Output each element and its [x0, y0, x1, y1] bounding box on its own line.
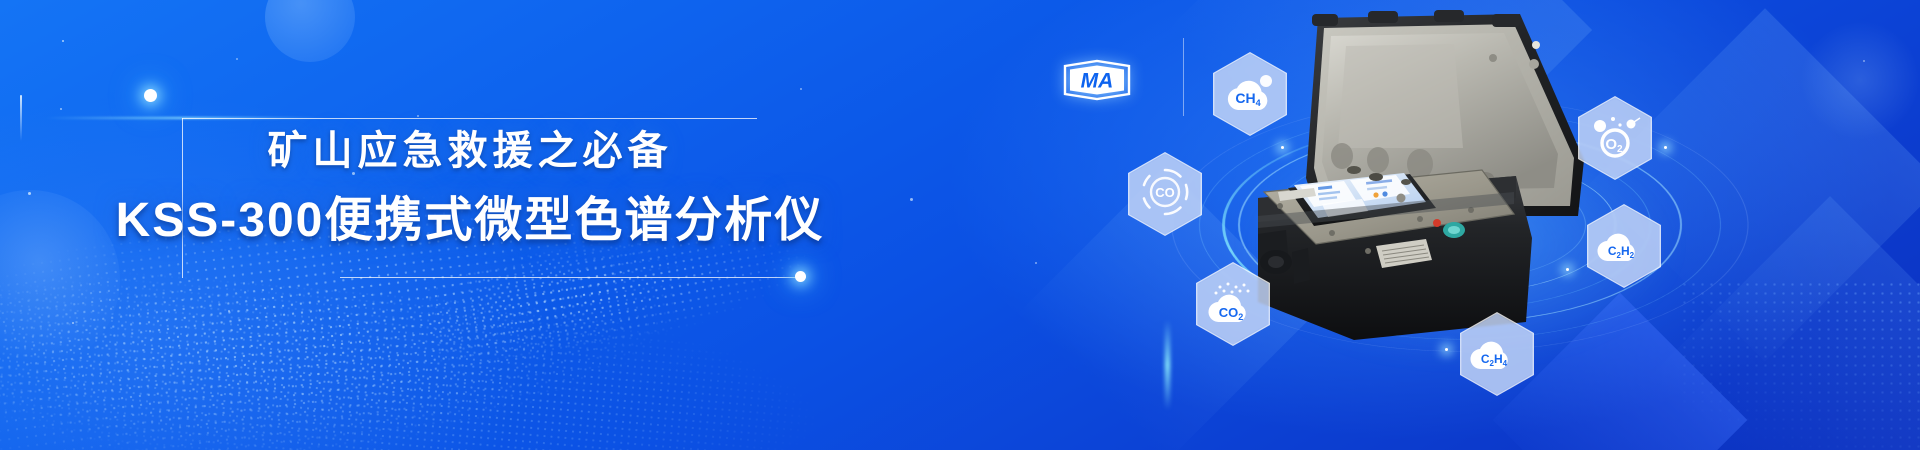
gas-icon-c2h2: C2H2 [1587, 204, 1661, 288]
frame-node-bottom-right [795, 271, 806, 282]
sparkle-dot [800, 88, 802, 90]
gas-icon-co: CO [1128, 152, 1202, 236]
banner-title: KSS-300便携式微型色谱分析仪 [110, 180, 830, 250]
gas-icon-c2h4: C2H4 [1460, 312, 1534, 396]
molecule-gas-icon: O2 [1586, 112, 1644, 165]
sparkle-dot [236, 58, 238, 60]
sparkle-streak [20, 95, 22, 141]
product-banner: 矿山应急救援之必备 KSS-300便携式微型色谱分析仪 MA [0, 0, 1920, 450]
gas-icon-o2: O2 [1578, 96, 1652, 180]
vertical-divider [1183, 38, 1184, 116]
sparkle-dot [72, 322, 74, 324]
frame-bottom-rule [340, 277, 806, 278]
svg-text:O2: O2 [1605, 136, 1623, 155]
radial-gas-icon: CO [1139, 166, 1191, 223]
bg-blob [1800, 20, 1920, 140]
cloud-gas-icon: CO2 [1203, 278, 1263, 331]
svg-text:CO: CO [1155, 185, 1175, 200]
sparkle-dot [228, 310, 230, 312]
cloud-gas-icon: C2H2 [1594, 223, 1654, 270]
sparkle-dot [417, 115, 419, 117]
bg-blob [265, 0, 355, 62]
gas-icon-co2: CO2 [1196, 262, 1270, 346]
ring-node [1445, 348, 1448, 351]
sparkle-dot [62, 40, 64, 42]
cloud-gas-icon: CH4 [1221, 70, 1279, 119]
light-streak [1165, 320, 1170, 410]
ring-node [1281, 146, 1284, 149]
sparkle-dot [60, 108, 62, 110]
gas-icon-ch4: CH4 [1213, 52, 1287, 136]
sparkle-dot [1863, 60, 1865, 62]
svg-text:MA: MA [1081, 70, 1114, 93]
sparkle-dot [1035, 262, 1037, 264]
ma-certification-badge: MA [1060, 58, 1134, 102]
banner-subtitle: 矿山应急救援之必备 [140, 118, 800, 176]
ring-node [1664, 146, 1667, 149]
sparkle-dot [28, 192, 31, 195]
frame-node-top-left [144, 89, 157, 102]
ring-node [1566, 268, 1569, 271]
dot-wave-mesh [1680, 280, 1920, 450]
sparkle-dot [910, 198, 913, 201]
cloud-gas-icon: C2H4 [1467, 331, 1527, 378]
